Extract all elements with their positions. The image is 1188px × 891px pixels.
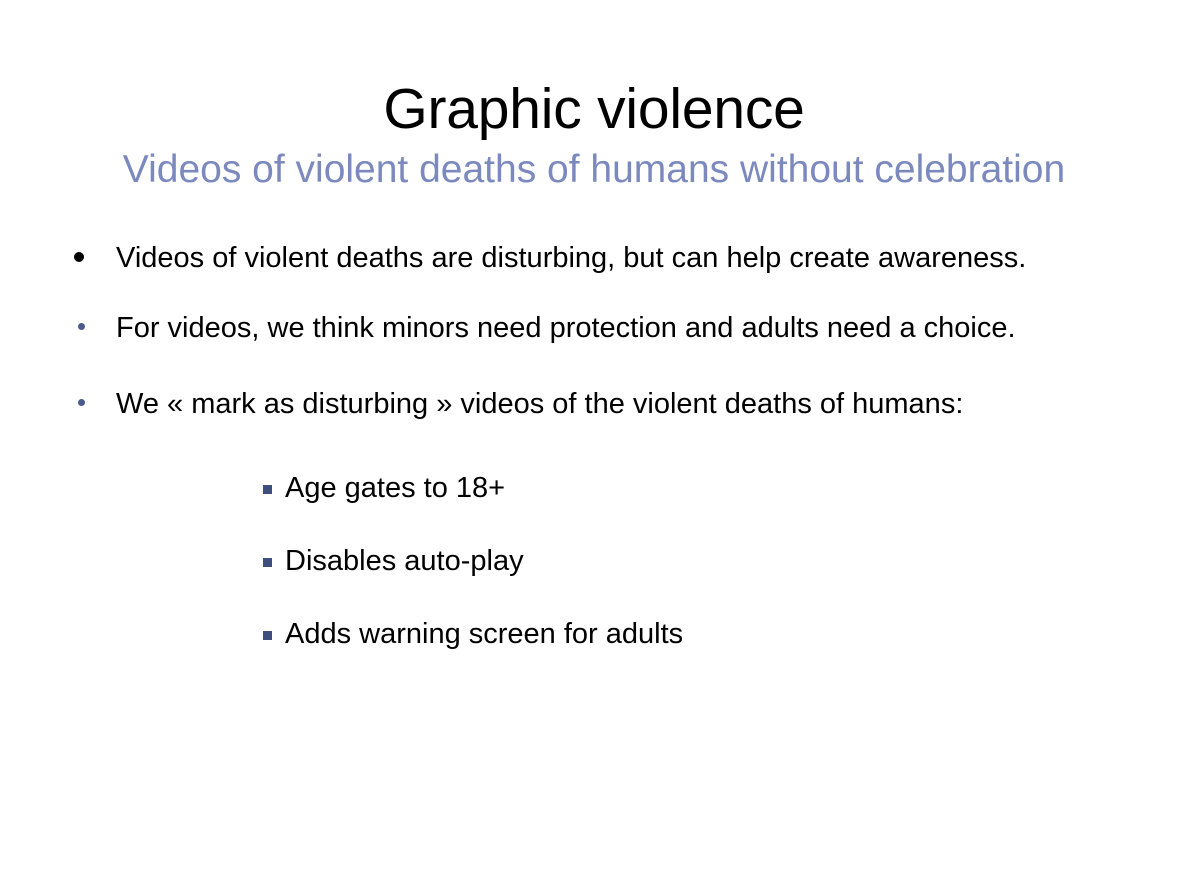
slide-subtitle: Videos of violent deaths of humans witho… <box>0 140 1188 192</box>
sub-bullet-item: Age gates to 18+ <box>0 455 1188 522</box>
bullet-square-icon <box>263 558 272 567</box>
sub-bullet-text: Disables auto-play <box>285 528 1148 595</box>
bullet-text: We « mark as disturbing » videos of the … <box>116 379 1144 429</box>
sub-bullet-item: Adds warning screen for adults <box>0 601 1188 668</box>
slide-title: Graphic violence <box>0 78 1188 140</box>
sub-bullet-text: Age gates to 18+ <box>285 455 1148 522</box>
slide-body: Videos of violent deaths are disturbing,… <box>0 238 1188 674</box>
slide-header: Graphic violence Videos of violent death… <box>0 78 1188 192</box>
bullet-dot-icon <box>78 399 85 406</box>
bullet-text: For videos, we think minors need protect… <box>116 303 1144 353</box>
bullet-item: We « mark as disturbing » videos of the … <box>0 379 1188 429</box>
sub-bullet-text: Adds warning screen for adults <box>285 601 1148 668</box>
sub-bullet-item: Disables auto-play <box>0 528 1188 595</box>
bullet-square-icon <box>263 631 272 640</box>
presentation-slide: Graphic violence Videos of violent death… <box>0 0 1188 891</box>
bullet-square-icon <box>263 485 272 494</box>
bullet-text: Videos of violent deaths are disturbing,… <box>116 238 1048 279</box>
bullet-item: For videos, we think minors need protect… <box>0 303 1188 353</box>
sub-bullet-list: Age gates to 18+ Disables auto-play Adds… <box>0 455 1188 668</box>
bullet-item: Videos of violent deaths are disturbing,… <box>0 238 1188 279</box>
bullet-dot-icon <box>74 252 84 262</box>
bullet-dot-icon <box>78 323 85 330</box>
